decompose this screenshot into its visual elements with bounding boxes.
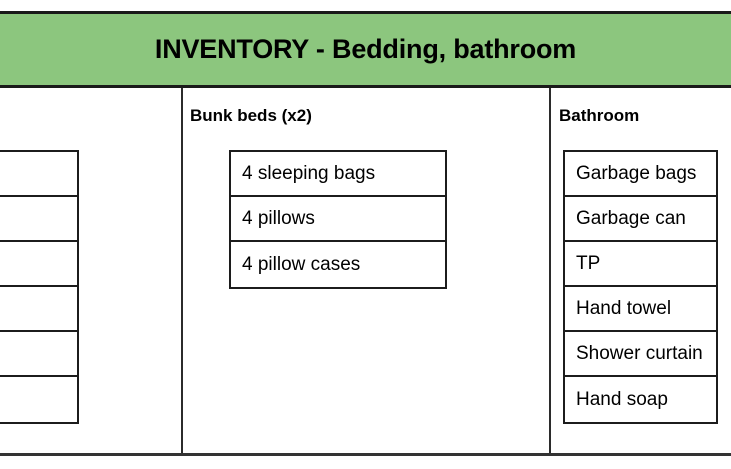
list-item[interactable]: Garbage can <box>565 197 716 242</box>
list-item[interactable]: Hand towel <box>565 287 716 332</box>
list-item[interactable] <box>0 377 77 422</box>
list-item[interactable]: Hand soap <box>565 377 716 422</box>
list-item[interactable]: s <box>0 287 77 332</box>
list-item[interactable] <box>0 197 77 242</box>
item-table-bathroom: Garbage bags Garbage can TP Hand towel S… <box>563 150 718 424</box>
inventory-title-banner: INVENTORY - Bedding, bathroom <box>0 11 731 88</box>
column-divider-right <box>549 88 551 455</box>
list-item[interactable] <box>0 332 77 377</box>
list-item[interactable] <box>0 152 77 197</box>
column-heading-bunk-beds: Bunk beds (x2) <box>190 106 312 126</box>
list-item[interactable] <box>0 242 77 287</box>
item-table-left-clipped: s <box>0 150 79 424</box>
page-title: INVENTORY - Bedding, bathroom <box>155 34 576 65</box>
list-item[interactable]: 4 pillow cases <box>231 242 445 287</box>
column-divider-left <box>181 88 183 455</box>
list-item[interactable]: 4 pillows <box>231 197 445 242</box>
list-item[interactable]: TP <box>565 242 716 287</box>
item-table-bunk-beds: 4 sleeping bags 4 pillows 4 pillow cases <box>229 150 447 289</box>
columns-region: s Bunk beds (x2) 4 sleeping bags 4 pillo… <box>0 88 731 458</box>
column-heading-bathroom: Bathroom <box>559 106 639 126</box>
list-item[interactable]: 4 sleeping bags <box>231 152 445 197</box>
list-item[interactable]: Shower curtain <box>565 332 716 377</box>
list-item[interactable]: Garbage bags <box>565 152 716 197</box>
sheet-bottom-rule <box>0 453 731 456</box>
inventory-sheet: INVENTORY - Bedding, bathroom s Bunk bed… <box>0 0 731 469</box>
